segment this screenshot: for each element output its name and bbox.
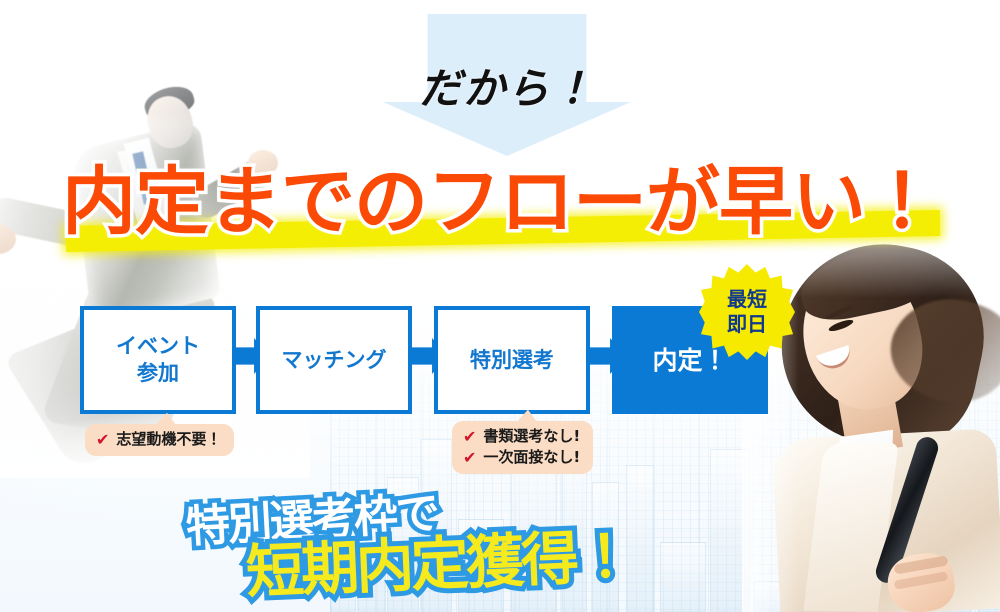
callout-text: 書類選考なし! — [483, 426, 580, 447]
callout-special-selection: ✔ 書類選考なし! ✔ 一次面接なし! — [452, 421, 593, 474]
flow-step-label: イベント参加 — [116, 333, 200, 387]
callout-row: ✔ 書類選考なし! — [463, 426, 580, 447]
flow-step-event-entry[interactable]: イベント参加 — [80, 306, 236, 414]
flow-step-label: マッチング — [282, 347, 387, 374]
callout-event-entry: ✔ 志望動機不要！ — [85, 424, 234, 456]
flow-step-matching[interactable]: マッチング — [256, 306, 412, 414]
tagline-line-2: 短期内定獲得！ — [245, 524, 632, 604]
callout-text: 一次面接なし! — [483, 447, 580, 468]
check-icon: ✔ — [96, 432, 109, 448]
flow-diagram: イベント参加 マッチング 特別選考 内定！ 最短 即日 ✔ 志望動機不要！ — [0, 0, 1000, 612]
callout-row: ✔ 一次面接なし! — [463, 447, 580, 468]
badge-line-1: 最短 — [727, 287, 767, 312]
flow-step-special-selection[interactable]: 特別選考 — [434, 306, 590, 414]
flow-step-label: 特別選考 — [470, 347, 554, 374]
callout-row: ✔ 志望動機不要！ — [96, 429, 221, 450]
badge-line-2: 即日 — [727, 312, 767, 337]
callout-text: 志望動機不要！ — [116, 429, 221, 450]
check-icon: ✔ — [463, 450, 476, 466]
check-icon: ✔ — [463, 429, 476, 445]
status-badge: 最短 即日 — [699, 264, 795, 360]
recruitment-banner: だから！ 内定までのフローが早い！ イベント参加 マッチング 特別選考 内定！ … — [0, 0, 1000, 612]
